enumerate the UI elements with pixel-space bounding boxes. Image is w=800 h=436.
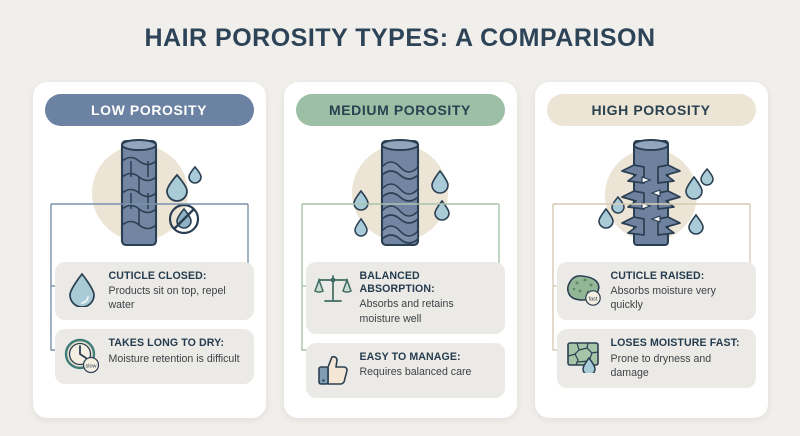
list-item-body: Prone to dryness and damage <box>611 352 748 380</box>
page-title: HAIR POROSITY TYPES: A COMPARISON <box>0 24 800 53</box>
list-item[interactable]: slow TAKES LONG TO DRY: Moisture retenti… <box>55 329 254 384</box>
hair-strand-closed-cuticle-icon <box>74 133 224 253</box>
porosity-card-medium: MEDIUM POROSITY <box>284 82 517 418</box>
list-item[interactable]: EASY TO MANAGE: Requires balanced care <box>306 343 505 398</box>
item-list-medium: BALANCED ABSORPTION: Absorbs and retains… <box>306 262 505 407</box>
porosity-card-high: HIGH POROSITY <box>535 82 768 418</box>
list-item[interactable]: LOSES MOISTURE FAST: Prone to dryness an… <box>557 329 756 387</box>
list-item-heading: LOSES MOISTURE FAST: <box>611 337 748 350</box>
thumbs-up-icon <box>313 350 353 390</box>
hair-strand-raised-cuticle-icon <box>576 133 726 253</box>
water-droplet-icon <box>62 269 102 309</box>
illustration-medium <box>284 132 517 254</box>
list-item-body: Absorbs moisture very quickly <box>611 284 748 312</box>
balance-scale-icon <box>313 269 353 309</box>
list-item[interactable]: BALANCED ABSORPTION: Absorbs and retains… <box>306 262 505 334</box>
list-item-text: TAKES LONG TO DRY: Moisture retention is… <box>109 336 240 365</box>
illustration-high <box>535 132 768 254</box>
list-item-text: CUTICLE CLOSED: Products sit on top, rep… <box>109 269 246 312</box>
list-item-body: Products sit on top, repel water <box>109 284 246 312</box>
fast-badge-label: fast <box>588 297 597 303</box>
item-list-high: fast CUTICLE RAISED: Absorbs moisture ve… <box>557 262 756 397</box>
list-item[interactable]: CUTICLE CLOSED: Products sit on top, rep… <box>55 262 254 320</box>
list-item-text: CUTICLE RAISED: Absorbs moisture very qu… <box>611 269 748 312</box>
list-item-text: LOSES MOISTURE FAST: Prone to dryness an… <box>611 336 748 379</box>
list-item-body: Requires balanced care <box>360 365 472 379</box>
cracked-earth-droplet-icon <box>564 336 604 376</box>
illustration-low <box>33 132 266 254</box>
card-header-medium: MEDIUM POROSITY <box>296 94 505 126</box>
porosity-columns: LOW POROSITY <box>0 82 800 418</box>
card-header-low: LOW POROSITY <box>45 94 254 126</box>
infographic-page: HAIR POROSITY TYPES: A COMPARISON LOW PO… <box>0 0 800 436</box>
list-item-text: BALANCED ABSORPTION: Absorbs and retains… <box>360 269 497 326</box>
item-list-low: CUTICLE CLOSED: Products sit on top, rep… <box>55 262 254 393</box>
list-item-heading: EASY TO MANAGE: <box>360 351 472 364</box>
list-item-heading: BALANCED ABSORPTION: <box>360 270 497 296</box>
list-item-body: Absorbs and retains moisture well <box>360 297 497 325</box>
slow-badge-label: slow <box>85 364 96 370</box>
card-header-high: HIGH POROSITY <box>547 94 756 126</box>
list-item-text: EASY TO MANAGE: Requires balanced care <box>360 350 472 379</box>
list-item-heading: CUTICLE CLOSED: <box>109 270 246 283</box>
clock-slow-icon: slow <box>62 336 102 376</box>
list-item-body: Moisture retention is difficult <box>109 352 240 366</box>
sponge-fast-icon: fast <box>564 269 604 309</box>
list-item-heading: TAKES LONG TO DRY: <box>109 337 240 350</box>
list-item[interactable]: fast CUTICLE RAISED: Absorbs moisture ve… <box>557 262 756 320</box>
porosity-card-low: LOW POROSITY <box>33 82 266 418</box>
list-item-heading: CUTICLE RAISED: <box>611 270 748 283</box>
hair-strand-medium-cuticle-icon <box>325 133 475 253</box>
